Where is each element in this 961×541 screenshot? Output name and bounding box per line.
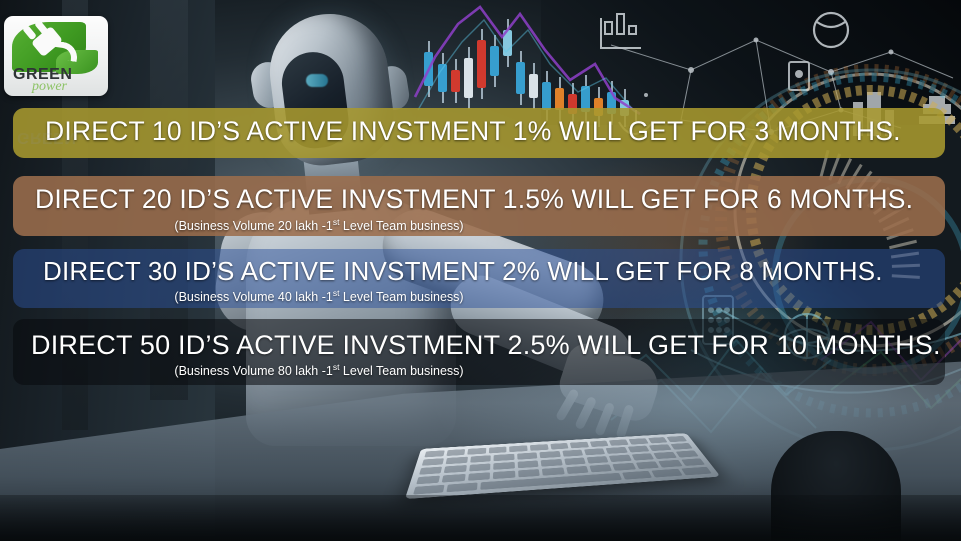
logo-reflection: GREEN — [8, 114, 112, 148]
offer-banner-3-subtext: (Business Volume 40 lakh -1st Level Team… — [13, 288, 945, 304]
offer-banner-4-subtext-prefix: (Business Volume 80 lakh -1 — [174, 365, 332, 379]
offer-banner-3-subtext-suffix: Level Team business) — [339, 290, 463, 304]
presentation-slide: GREEN power GREEN DIRECT 10 ID’S ACTIVE … — [0, 0, 961, 541]
offer-banner-3-headline: DIRECT 30 ID’S ACTIVE INVSTMENT 2% WILL … — [13, 258, 945, 285]
offer-banner-list: DIRECT 10 ID’S ACTIVE INVSTMENT 1% WILL … — [0, 0, 961, 541]
offer-banner-1-headline: DIRECT 10 ID’S ACTIVE INVSTMENT 1% WILL … — [13, 118, 945, 146]
offer-banner-2-headline: DIRECT 20 ID’S ACTIVE INVSTMENT 1.5% WIL… — [13, 186, 945, 214]
offer-banner-4-headline: DIRECT 50 ID’S ACTIVE INVSTMENT 2.5% WIL… — [13, 331, 945, 359]
offer-banner-2[interactable]: DIRECT 20 ID’S ACTIVE INVSTMENT 1.5% WIL… — [13, 176, 945, 236]
logo[interactable]: GREEN power GREEN — [4, 16, 108, 96]
logo-card: GREEN power — [4, 16, 108, 96]
logo-secondary-text: power — [32, 79, 67, 95]
offer-banner-2-subtext: (Business Volume 20 lakh -1st Level Team… — [13, 217, 945, 233]
offer-banner-3[interactable]: DIRECT 30 ID’S ACTIVE INVSTMENT 2% WILL … — [13, 249, 945, 308]
offer-banner-4-subtext-suffix: Level Team business) — [339, 365, 463, 379]
offer-banner-4-subtext: (Business Volume 80 lakh -1st Level Team… — [13, 362, 945, 378]
offer-banner-4[interactable]: DIRECT 50 ID’S ACTIVE INVSTMENT 2.5% WIL… — [13, 319, 945, 385]
offer-banner-2-subtext-suffix: Level Team business) — [339, 219, 463, 233]
offer-banner-1[interactable]: DIRECT 10 ID’S ACTIVE INVSTMENT 1% WILL … — [13, 108, 945, 158]
offer-banner-2-subtext-prefix: (Business Volume 20 lakh -1 — [174, 219, 332, 233]
offer-banner-3-subtext-prefix: (Business Volume 40 lakh -1 — [174, 290, 332, 304]
logo-reflection-text: GREEN — [17, 128, 76, 146]
